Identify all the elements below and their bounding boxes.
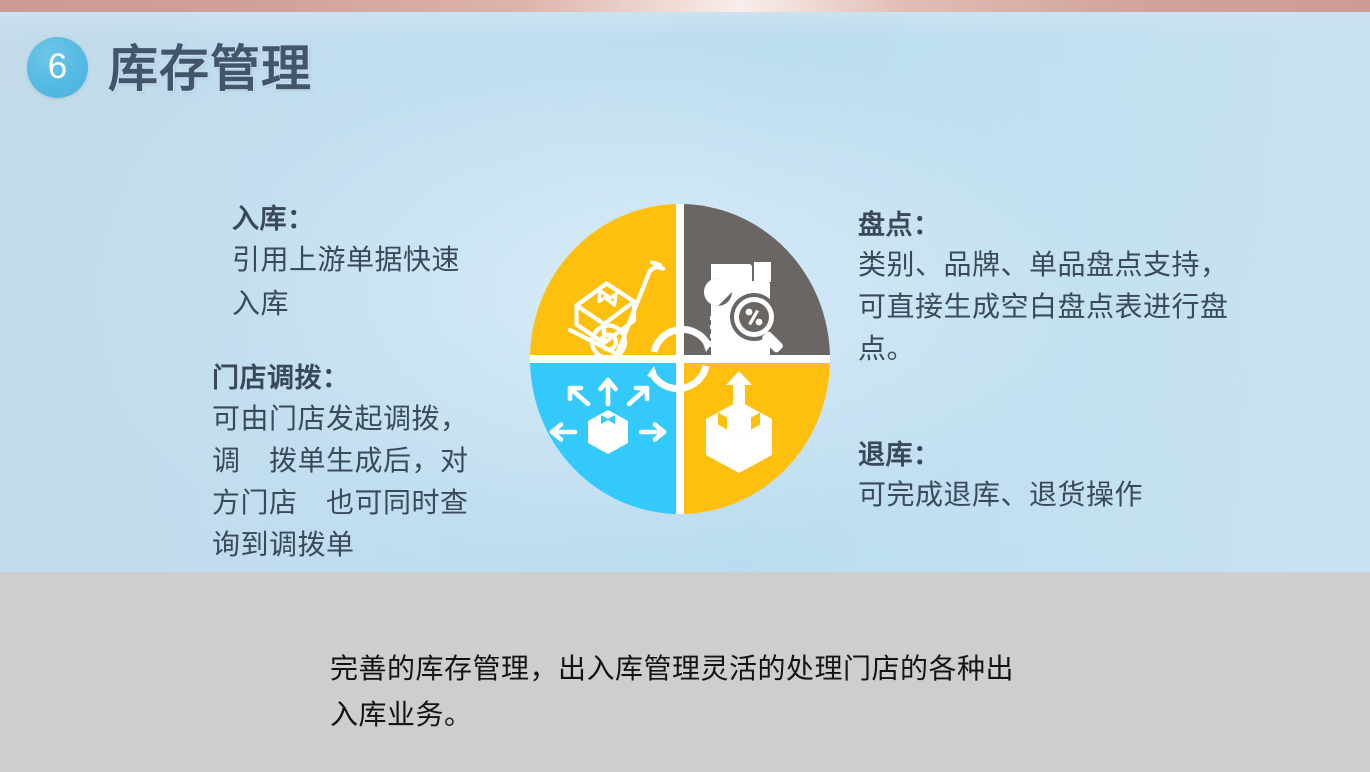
- top-accent-strip: [0, 0, 1370, 12]
- transfer-title: 门店调拨：: [212, 358, 552, 398]
- summary-line2: 入库业务。: [330, 692, 1210, 738]
- inbound-body-line1: 引用上游单据快速: [226, 238, 546, 282]
- transfer-body-line1: 可由门店发起调拨，: [212, 398, 552, 440]
- page-title: 库存管理: [108, 44, 312, 94]
- slide-header: 6 库存管理: [0, 12, 1370, 108]
- returns-title: 退库：: [858, 436, 1278, 474]
- transfer-body-line2: 调 拨单生成后，对: [212, 440, 552, 482]
- summary-line1: 完善的库存管理，出入库管理灵活的处理门店的各种出: [330, 653, 1014, 684]
- section-number-label: 6: [27, 37, 88, 98]
- summary-text: 完善的库存管理，出入库管理灵活的处理门店的各种出 入库业务。: [330, 646, 1210, 738]
- inbound-body-line2: 入库: [226, 282, 546, 326]
- returns-body-line1: 可完成退库、退货操作: [858, 474, 1278, 516]
- stocktake-title: 盘点：: [858, 206, 1328, 244]
- transfer-body-line4: 询到调拨单: [212, 524, 552, 566]
- summary-band: 完善的库存管理，出入库管理灵活的处理门店的各种出 入库业务。: [0, 572, 1370, 772]
- stocktake-body-line2: 可直接生成空白盘点表进行盘: [858, 286, 1328, 328]
- stocktake-body-line3: 点。: [858, 328, 1328, 370]
- stocktake-body-line1: 类别、品牌、单品盘点支持，: [858, 244, 1328, 286]
- text-block-store-transfer: 门店调拨： 可由门店发起调拨， 调 拨单生成后，对 方门店 也可同时查 询到调拨…: [212, 358, 552, 566]
- inbound-title: 入库：: [226, 200, 546, 238]
- text-block-stocktake: 盘点： 类别、品牌、单品盘点支持， 可直接生成空白盘点表进行盘 点。: [858, 206, 1328, 370]
- slide-canvas: 6 库存管理 入库： 引用上游单据快速 入库 门店调拨： 可由门店发起调拨， 调…: [0, 0, 1370, 772]
- text-block-inbound: 入库： 引用上游单据快速 入库: [226, 200, 546, 326]
- section-number-badge: 6: [27, 37, 88, 98]
- transfer-body-line3: 方门店 也可同时查: [212, 482, 552, 524]
- text-block-returns: 退库： 可完成退库、退货操作: [858, 436, 1278, 516]
- inventory-wheel-diagram: [530, 204, 830, 514]
